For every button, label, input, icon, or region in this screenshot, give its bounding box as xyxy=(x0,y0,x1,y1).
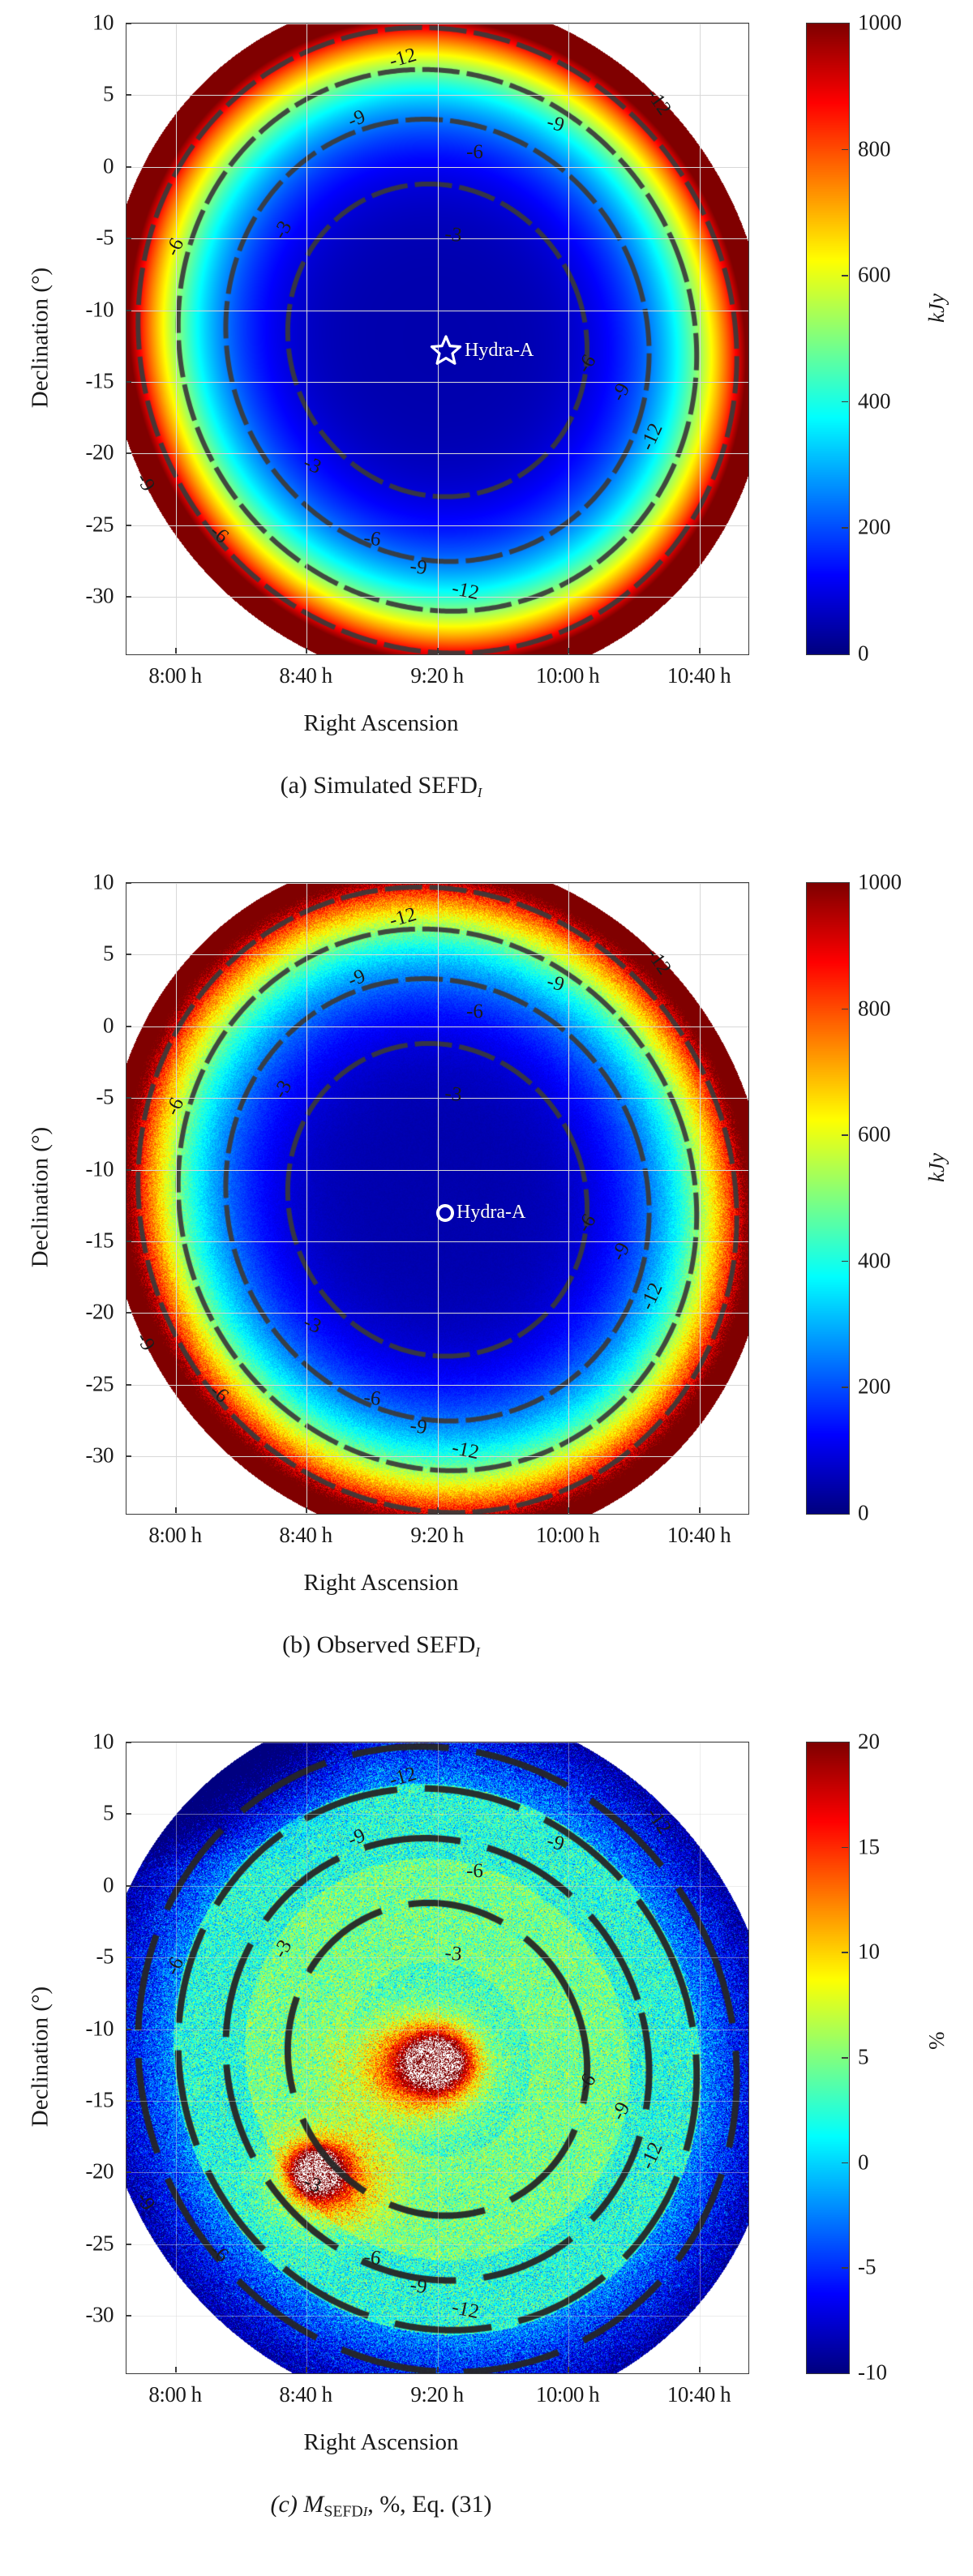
x-tick-mark xyxy=(437,648,439,654)
colorbar-tick-mark xyxy=(842,527,848,529)
colorbar-tick-label: 15 xyxy=(858,1834,880,1859)
colorbar-tick-label: -5 xyxy=(858,2255,877,2280)
y-tick-label: 0 xyxy=(36,1873,114,1898)
gridline-horizontal xyxy=(126,1957,748,1958)
x-tick-label: 10:00 h xyxy=(536,1523,599,1548)
y-tick-label: 0 xyxy=(36,154,114,179)
x-tick-label: 9:20 h xyxy=(410,1523,463,1548)
panel-b-y-axis-title: Declination (°) xyxy=(28,1076,54,1319)
colorbar-tick-mark xyxy=(842,1261,848,1262)
panel-b-caption-subscript: I xyxy=(475,1644,480,1660)
gridline-horizontal xyxy=(126,2316,748,2317)
x-tick-mark xyxy=(568,1507,569,1513)
x-tick-label: 8:00 h xyxy=(148,2382,201,2407)
x-tick-label: 10:00 h xyxy=(536,663,599,688)
x-tick-label: 10:00 h xyxy=(536,2382,599,2407)
y-tick-mark xyxy=(126,2171,131,2173)
panel-b-axes: Hydra-A -12-12-12-12-9-9-9-9-9-6-6-6-6-6… xyxy=(126,882,749,1515)
colorbar-tick-mark xyxy=(842,1134,848,1136)
y-tick-mark xyxy=(126,166,131,168)
y-tick-mark xyxy=(126,1384,131,1386)
panel-a-colorbar-title: kJy xyxy=(924,294,949,323)
x-tick-label: 8:00 h xyxy=(148,663,201,688)
colorbar-tick-label: 400 xyxy=(858,1248,891,1273)
contour-label: -9 xyxy=(409,1414,429,1439)
hydra-a-label: Hydra-A xyxy=(465,340,534,362)
y-tick-mark xyxy=(126,2100,131,2102)
colorbar-tick-mark xyxy=(842,2162,848,2164)
contour-label: -3 xyxy=(444,1082,463,1107)
panel-c-y-axis-title: Declination (°) xyxy=(28,1935,54,2179)
gridline-horizontal xyxy=(126,2101,748,2102)
y-tick-mark xyxy=(126,23,131,24)
gridline-horizontal xyxy=(126,597,748,598)
contour-label: -3 xyxy=(444,223,463,247)
panel-c-axes: -12-12-12-12-9-9-9-9-9-6-6-6-6-6-3-3-3 xyxy=(126,1742,749,2374)
panel-c-caption-suffix: , %, Eq. (31) xyxy=(367,2491,491,2518)
gridline-vertical xyxy=(306,883,307,1514)
hydra-a-marker-group: Hydra-A xyxy=(430,334,534,366)
hydra-a-marker-group: Hydra-A xyxy=(436,1202,525,1224)
circle-marker-icon xyxy=(436,1204,454,1222)
colorbar-tick-mark xyxy=(842,1952,848,1953)
y-tick-label: 10 xyxy=(36,11,114,36)
y-tick-mark xyxy=(126,310,131,311)
gridline-vertical xyxy=(700,1742,701,2373)
panel-a-caption-subscript: I xyxy=(478,785,482,800)
y-tick-mark xyxy=(126,1885,131,1887)
gridline-vertical xyxy=(306,24,307,654)
gridline-vertical xyxy=(568,883,569,1514)
colorbar-tick-label: 400 xyxy=(858,388,891,414)
gridline-vertical xyxy=(700,883,701,1514)
panel-a-y-axis-title: Declination (°) xyxy=(28,216,54,460)
panel-a-x-axis-title: Right Ascension xyxy=(0,710,868,737)
gridline-vertical xyxy=(176,883,177,1514)
star-marker-icon xyxy=(430,334,462,366)
panel-c-x-axis-title: Right Ascension xyxy=(0,2429,868,2456)
x-tick-label: 8:00 h xyxy=(148,1523,201,1548)
y-tick-mark xyxy=(126,2029,131,2030)
y-tick-mark xyxy=(126,1241,131,1242)
x-tick-mark xyxy=(437,1507,439,1513)
y-tick-mark xyxy=(126,1813,131,1815)
y-tick-label: 5 xyxy=(36,82,114,107)
panel-b-colorbar xyxy=(806,882,850,1515)
y-tick-label: -30 xyxy=(36,2303,114,2328)
contour-label: -9 xyxy=(409,2274,429,2299)
gridline-horizontal xyxy=(126,238,748,239)
y-tick-mark xyxy=(126,1742,131,1743)
y-tick-label: 5 xyxy=(36,941,114,967)
gridline-horizontal xyxy=(126,1742,748,1743)
y-tick-mark xyxy=(126,1957,131,1958)
y-tick-label: -25 xyxy=(36,1372,114,1397)
y-tick-mark xyxy=(126,525,131,526)
contour-label: -6 xyxy=(362,527,382,551)
x-tick-mark xyxy=(699,1507,701,1513)
y-tick-mark xyxy=(126,2244,131,2245)
gridline-horizontal xyxy=(126,24,748,24)
contour-label: -9 xyxy=(409,555,429,580)
panel-a-axes: Hydra-A -12-12-12-12-9-9-9-9-9-6-6-6-6-6… xyxy=(126,23,749,655)
colorbar-tick-label: 0 xyxy=(858,2150,869,2175)
colorbar-tick-label: 200 xyxy=(858,1374,891,1399)
x-tick-label: 8:40 h xyxy=(279,663,332,688)
gridline-vertical xyxy=(438,1742,439,2373)
panel-a-colorbar xyxy=(806,23,850,655)
y-tick-mark xyxy=(126,94,131,96)
colorbar-tick-mark xyxy=(842,2267,848,2269)
y-tick-mark xyxy=(126,882,131,884)
x-tick-label: 9:20 h xyxy=(410,663,463,688)
gridline-vertical xyxy=(438,883,439,1514)
y-tick-mark xyxy=(126,2315,131,2317)
gridline-horizontal xyxy=(126,1886,748,1887)
colorbar-tick-label: 600 xyxy=(858,1122,891,1147)
contour-label: -6 xyxy=(466,1860,483,1883)
y-tick-mark xyxy=(126,381,131,383)
y-tick-label: 10 xyxy=(36,870,114,895)
figure-container: Hydra-A -12-12-12-12-9-9-9-9-9-6-6-6-6-6… xyxy=(0,0,973,2576)
contour-label: -6 xyxy=(362,1387,382,1411)
x-tick-mark xyxy=(699,2367,701,2372)
panel-b-colorbar-title: kJy xyxy=(924,1153,949,1182)
colorbar-tick-label: 800 xyxy=(858,996,891,1021)
gridline-horizontal xyxy=(126,167,748,168)
colorbar-tick-label: 1000 xyxy=(858,870,902,895)
colorbar-tick-label: -10 xyxy=(858,2360,887,2385)
x-tick-mark xyxy=(175,1507,177,1513)
x-tick-label: 9:20 h xyxy=(410,2382,463,2407)
y-tick-label: 5 xyxy=(36,1801,114,1826)
colorbar-tick-label: 600 xyxy=(858,263,891,288)
y-tick-label: 10 xyxy=(36,1729,114,1755)
panel-a-caption-text: (a) Simulated SEFD xyxy=(281,772,478,799)
x-tick-mark xyxy=(306,648,307,654)
gridline-horizontal xyxy=(126,311,748,311)
y-tick-label: -25 xyxy=(36,2231,114,2257)
gridline-horizontal xyxy=(126,883,748,884)
colorbar-tick-mark xyxy=(842,2057,848,2059)
colorbar-tick-mark xyxy=(842,1009,848,1010)
colorbar-tick-label: 10 xyxy=(858,1940,880,1965)
colorbar-tick-mark xyxy=(842,1847,848,1849)
hydra-a-label: Hydra-A xyxy=(456,1202,525,1224)
gridline-vertical xyxy=(306,1742,307,2373)
gridline-horizontal xyxy=(126,382,748,383)
y-tick-mark xyxy=(126,1455,131,1457)
x-tick-mark xyxy=(437,2367,439,2372)
x-tick-mark xyxy=(175,648,177,654)
gridline-horizontal xyxy=(126,1098,748,1099)
panel-a: Hydra-A -12-12-12-12-9-9-9-9-9-6-6-6-6-6… xyxy=(0,0,973,859)
x-tick-label: 10:40 h xyxy=(667,663,731,688)
x-tick-label: 8:40 h xyxy=(279,2382,332,2407)
y-tick-mark xyxy=(126,596,131,598)
colorbar-tick-mark xyxy=(842,1387,848,1388)
panel-c-caption-text: (c) M xyxy=(271,2491,324,2518)
x-tick-mark xyxy=(568,648,569,654)
gridline-horizontal xyxy=(126,1027,748,1027)
gridline-vertical xyxy=(176,24,177,654)
gridline-vertical xyxy=(700,24,701,654)
y-tick-label: 0 xyxy=(36,1014,114,1039)
contour-label: -3 xyxy=(444,1942,463,1966)
x-tick-mark xyxy=(699,648,701,654)
x-tick-label: 10:40 h xyxy=(667,2382,731,2407)
y-tick-mark xyxy=(126,452,131,454)
y-tick-mark xyxy=(126,238,131,239)
colorbar-tick-mark xyxy=(842,275,848,276)
panel-b-caption: (b) Observed SEFDI xyxy=(0,1631,868,1661)
x-tick-mark xyxy=(175,2367,177,2372)
y-tick-mark xyxy=(126,1097,131,1099)
panel-c-colorbar-title: % xyxy=(924,2032,949,2051)
x-tick-mark xyxy=(306,2367,307,2372)
y-tick-mark xyxy=(126,1312,131,1314)
gridline-horizontal xyxy=(126,1456,748,1457)
gridline-vertical xyxy=(568,24,569,654)
panel-b-x-axis-title: Right Ascension xyxy=(0,1570,868,1597)
gridline-horizontal xyxy=(126,2030,748,2030)
y-tick-mark xyxy=(126,1026,131,1027)
colorbar-tick-label: 5 xyxy=(858,2045,869,2070)
y-tick-mark xyxy=(126,954,131,955)
y-tick-mark xyxy=(126,1169,131,1171)
x-tick-mark xyxy=(568,2367,569,2372)
y-tick-label: -30 xyxy=(36,584,114,609)
panel-c-caption: (c) MSEFDI, %, Eq. (31) xyxy=(0,2491,868,2522)
y-tick-label: -30 xyxy=(36,1443,114,1468)
panel-c-caption-subscript: SEFD xyxy=(324,2503,362,2521)
contour-label: -6 xyxy=(362,2246,382,2270)
x-tick-label: 10:40 h xyxy=(667,1523,731,1548)
colorbar-tick-label: 1000 xyxy=(858,11,902,36)
gridline-horizontal xyxy=(126,1170,748,1171)
colorbar-tick-label: 20 xyxy=(858,1729,880,1755)
panel-b-caption-text: (b) Observed SEFD xyxy=(282,1631,475,1658)
colorbar-tick-label: 0 xyxy=(858,641,869,667)
panel-c: -12-12-12-12-9-9-9-9-9-6-6-6-6-6-3-3-3 1… xyxy=(0,1719,973,2576)
panel-a-caption: (a) Simulated SEFDI xyxy=(0,772,868,801)
panel-b: Hydra-A -12-12-12-12-9-9-9-9-9-6-6-6-6-6… xyxy=(0,859,973,1719)
x-tick-mark xyxy=(306,1507,307,1513)
contour-label: -6 xyxy=(466,1001,483,1023)
x-tick-label: 8:40 h xyxy=(279,1523,332,1548)
colorbar-tick-label: 800 xyxy=(858,136,891,161)
gridline-horizontal xyxy=(126,1241,748,1242)
gridline-vertical xyxy=(176,1742,177,2373)
contour-label: -6 xyxy=(466,141,483,164)
y-tick-label: -25 xyxy=(36,512,114,538)
colorbar-tick-label: 200 xyxy=(858,515,891,540)
colorbar-tick-mark xyxy=(842,401,848,403)
colorbar-tick-mark xyxy=(842,149,848,151)
colorbar-tick-label: 0 xyxy=(858,1501,869,1526)
gridline-vertical xyxy=(568,1742,569,2373)
